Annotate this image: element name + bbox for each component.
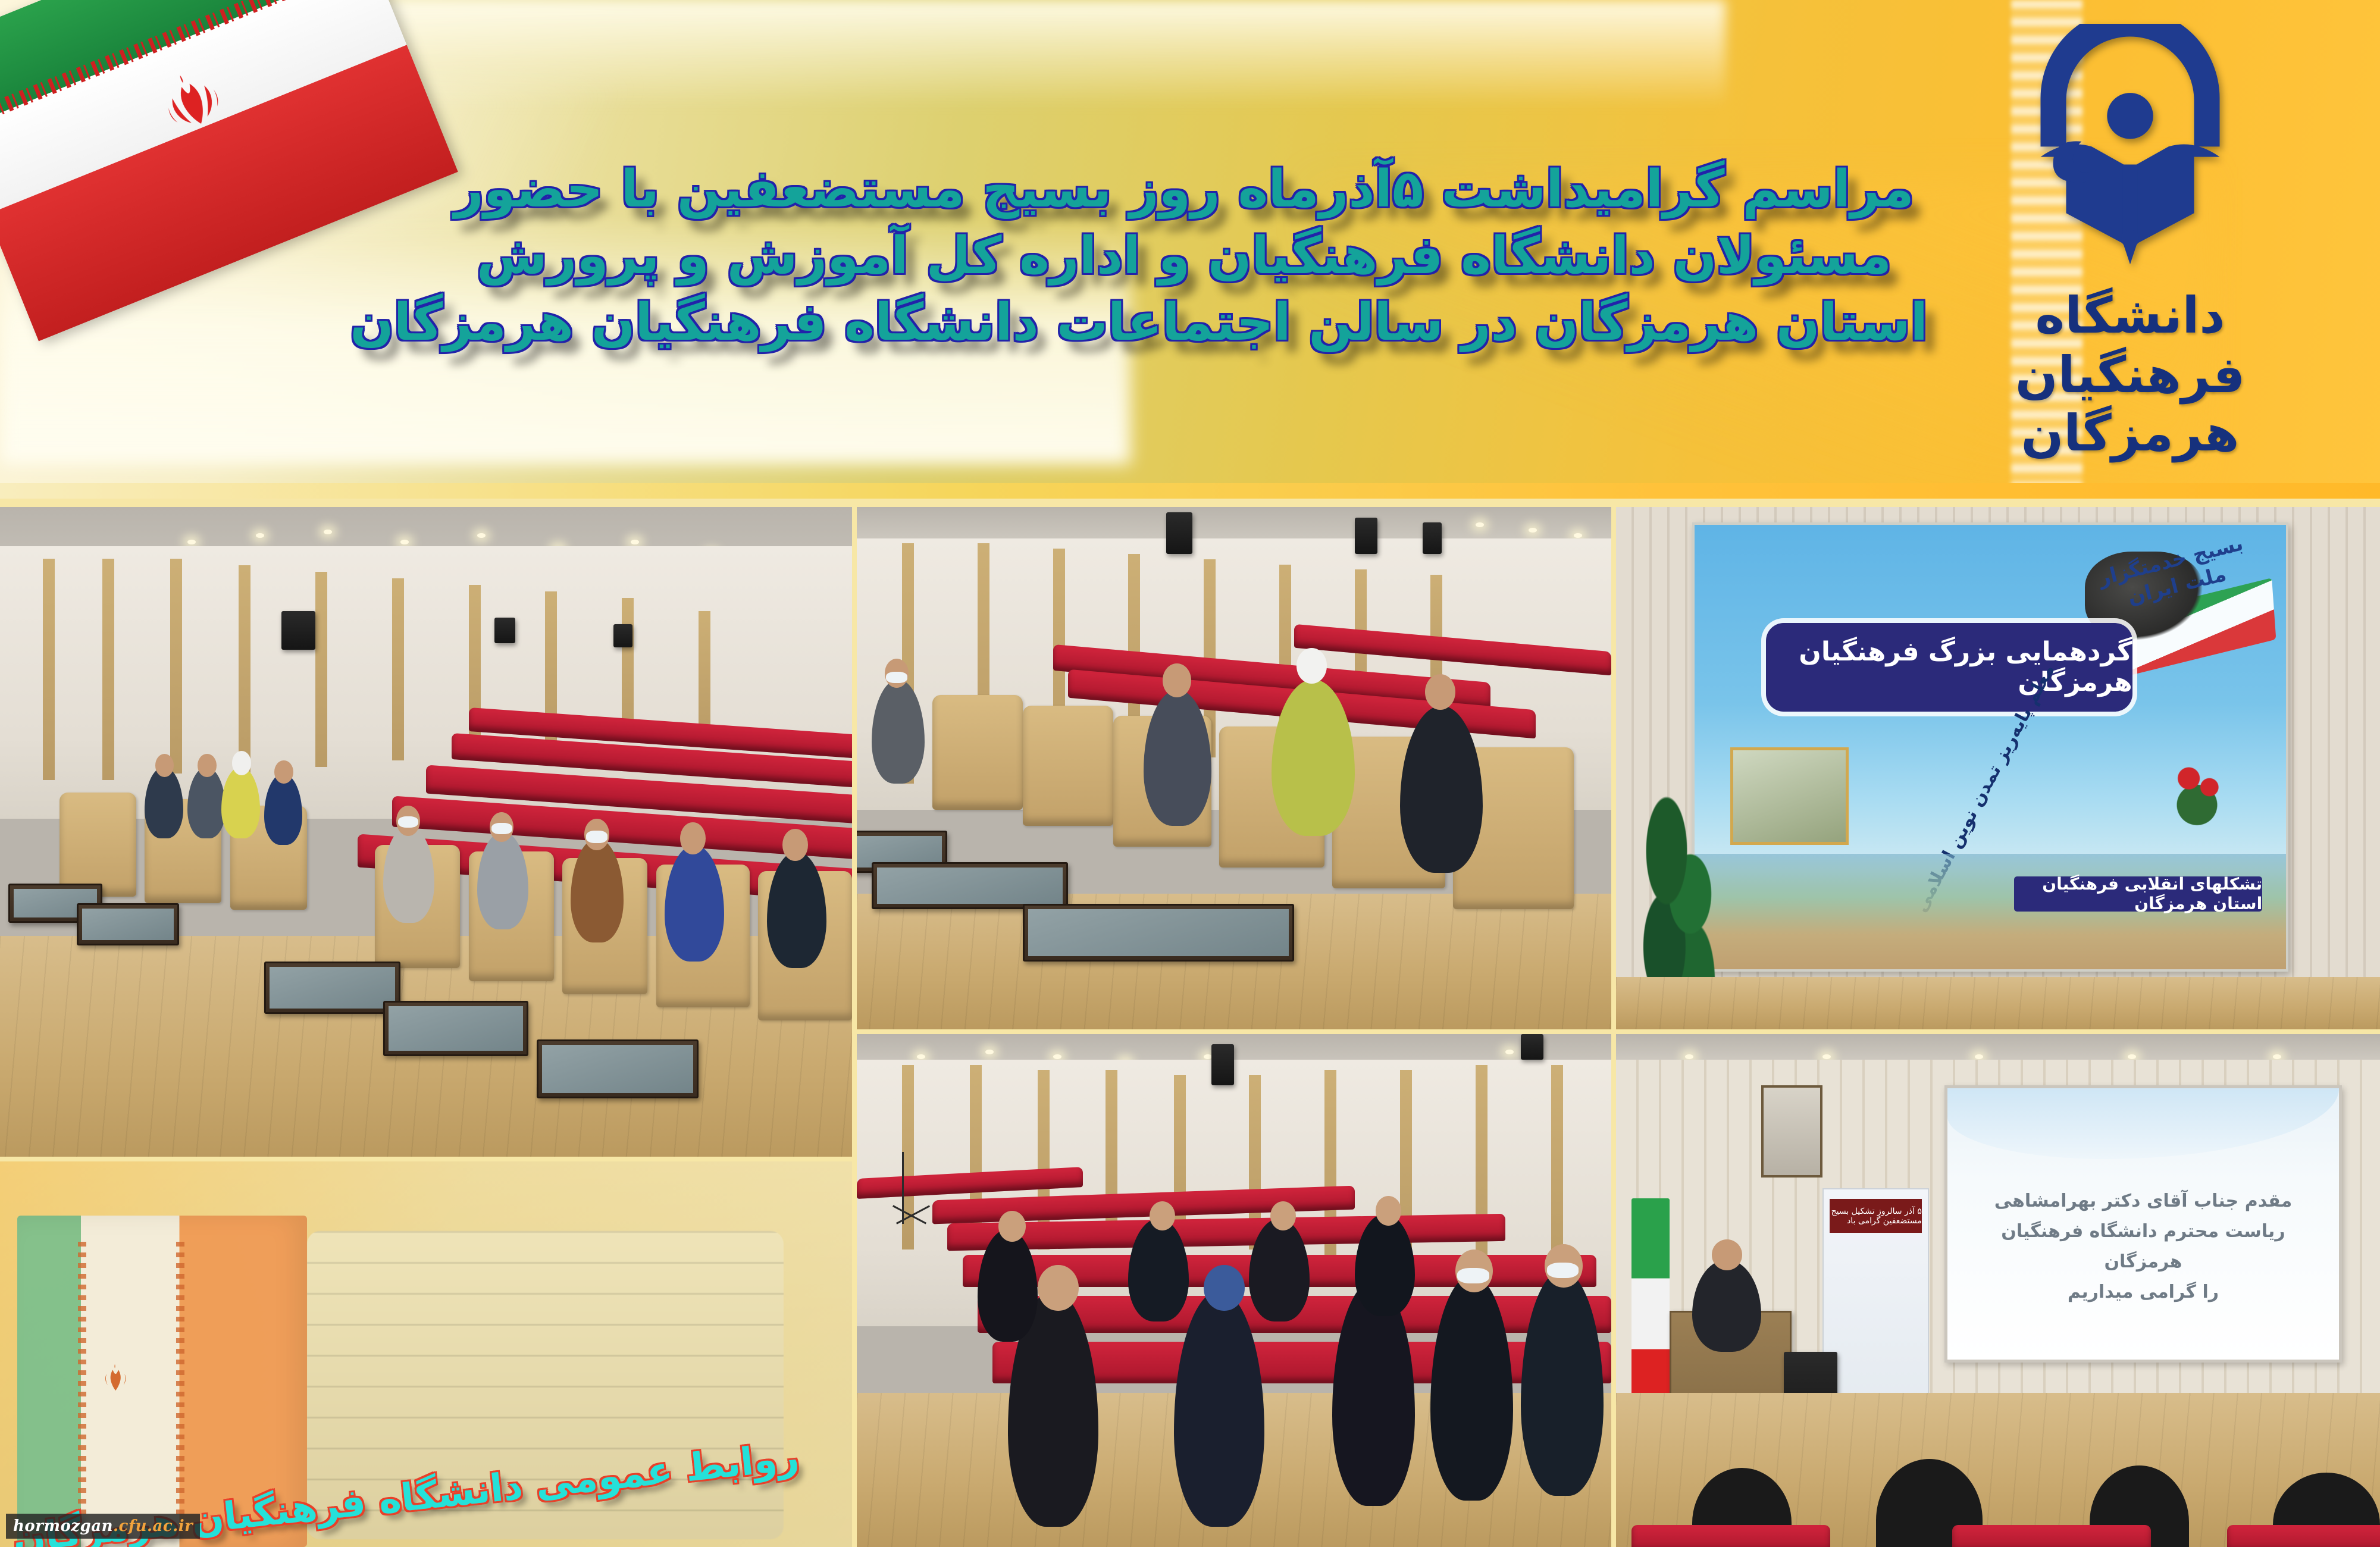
book-arch-logo-icon (2002, 24, 2258, 280)
photo-flag-and-aid-sacks: روابط عمومی دانشگاه فرهنگیان هرمزگان hor… (0, 1161, 852, 1547)
speaker-head (1712, 1239, 1742, 1270)
photo-stage-speech: مقدم جناب آقای دکتر بهرامشاهی ریاست محتر… (1616, 1034, 2380, 1547)
banner-hand-pen-photo (1730, 747, 1849, 845)
watermark-part-2: .cfu.ac.ir (113, 1517, 193, 1535)
slide-line-1: مقدم جناب آقای دکتر بهرامشاهی (1971, 1186, 2316, 1216)
logo-caption: دانشگاه فرهنگیان هرمزگان (1946, 286, 2315, 462)
slide-line-2: ریاست محترم دانشگاه فرهنگیان هرمزگان (1971, 1216, 2316, 1277)
stage-scene: مقدم جناب آقای دکتر بهرامشاهی ریاست محتر… (1616, 1034, 2380, 1547)
leader-portrait-frame (1761, 1085, 1822, 1178)
title-line-2: مسئولان دانشگاه فرهنگیان و اداره کل آموز… (440, 223, 1928, 289)
standee-headline: ۵ آذر سالروز تشکیل بسیج مستضعفین گرامی ب… (1830, 1199, 1922, 1233)
photo-hall-wide-audience (0, 507, 852, 1157)
hall-scene-women (857, 1034, 1611, 1547)
projection-screen: مقدم جناب آقای دکتر بهرامشاهی ریاست محتر… (1944, 1085, 2342, 1362)
poster-title: مراسم گرامیداشت ۵آذرماه روز بسیج مستضعفی… (440, 156, 1928, 356)
hall-scene (0, 507, 852, 1157)
watermark-part-1: hormozgan (13, 1517, 113, 1535)
photo-women-audience (857, 1034, 1611, 1547)
event-banner-board: بسیج خدمتگزار ملت ایران گردهمایی بزرگ فر… (1692, 522, 2288, 972)
photo-grid: بسیج خدمتگزار ملت ایران گردهمایی بزرگ فر… (0, 499, 2380, 1547)
cloth-emblem-icon (98, 1348, 133, 1408)
logo-caption-line-2: هرمزگان (1946, 405, 2315, 462)
foreground-audience (1616, 1434, 2380, 1547)
logo-caption-line-1: دانشگاه فرهنگیان (1946, 286, 2315, 405)
banner-headline: گردهمایی بزرگ فرهنگیان هرمزگان (1766, 623, 2132, 712)
photo-event-banner: بسیج خدمتگزار ملت ایران گردهمایی بزرگ فر… (1616, 507, 2380, 1029)
title-line-1: مراسم گرامیداشت ۵آذرماه روز بسیج مستضعفی… (440, 156, 1928, 223)
site-watermark: hormozgan.cfu.ac.ir (6, 1514, 200, 1539)
header-bottom-edge (0, 483, 2380, 499)
photo-front-row-guests (857, 507, 1611, 1029)
poster-header: مراسم گرامیداشت ۵آذرماه روز بسیج مستضعفی… (0, 0, 2380, 499)
slide-text: مقدم جناب آقای دکتر بهرامشاهی ریاست محتر… (1971, 1186, 2316, 1307)
hall-scene-front-row (857, 507, 1611, 1029)
banner-scene: بسیج خدمتگزار ملت ایران گردهمایی بزرگ فر… (1616, 507, 2380, 1029)
banner-flowers (2156, 747, 2238, 836)
title-line-3: استان هرمزگان در سالن اجتماعات دانشگاه ف… (440, 289, 1928, 356)
slide-line-3: را گرامی میداریم (1971, 1277, 2316, 1307)
slide-sky-graphic (1947, 1088, 2339, 1158)
poster-root: مراسم گرامیداشت ۵آذرماه روز بسیج مستضعفی… (0, 0, 2380, 1547)
university-logo: دانشگاه فرهنگیان هرمزگان (1946, 24, 2315, 482)
banner-footer: تشکلهای انقلابی فرهنگیان استان هرمزگان (2014, 876, 2262, 912)
